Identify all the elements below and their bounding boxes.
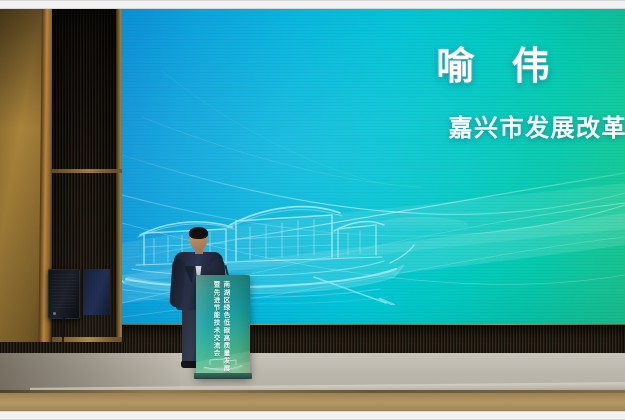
speaker-name-title: 喻 伟 [374, 47, 624, 85]
photo-border-top [0, 0, 625, 9]
photo-content: 喻 伟 嘉兴市发展改革委副主任 [0, 7, 625, 413]
loudspeaker-grill [52, 274, 76, 308]
podium-banner-line-2: 暨先进节能技术交流会 [212, 281, 219, 355]
stage-apron [0, 393, 625, 413]
speaker-job-title: 嘉兴市发展改革委副主任 [312, 115, 625, 141]
podium-banner-line-1: 南湖区绿色低碳高质量发展 [222, 281, 229, 355]
conference-photo: 喻 伟 嘉兴市发展改革委副主任 [0, 0, 625, 420]
wall-acoustic-panel [83, 269, 110, 315]
wall-loudspeaker [48, 269, 80, 319]
podium-banner-text: 南湖区绿色低碳高质量发展 暨先进节能技术交流会 [196, 281, 250, 355]
wall-rail-upper [52, 169, 126, 173]
podium-base [194, 373, 252, 379]
eyeglasses-icon [191, 237, 206, 241]
photo-border-bottom [0, 411, 625, 420]
podium-lectern: 南湖区绿色低碳高质量发展 暨先进节能技术交流会 [196, 275, 250, 377]
loudspeaker-led-icon [53, 312, 56, 315]
